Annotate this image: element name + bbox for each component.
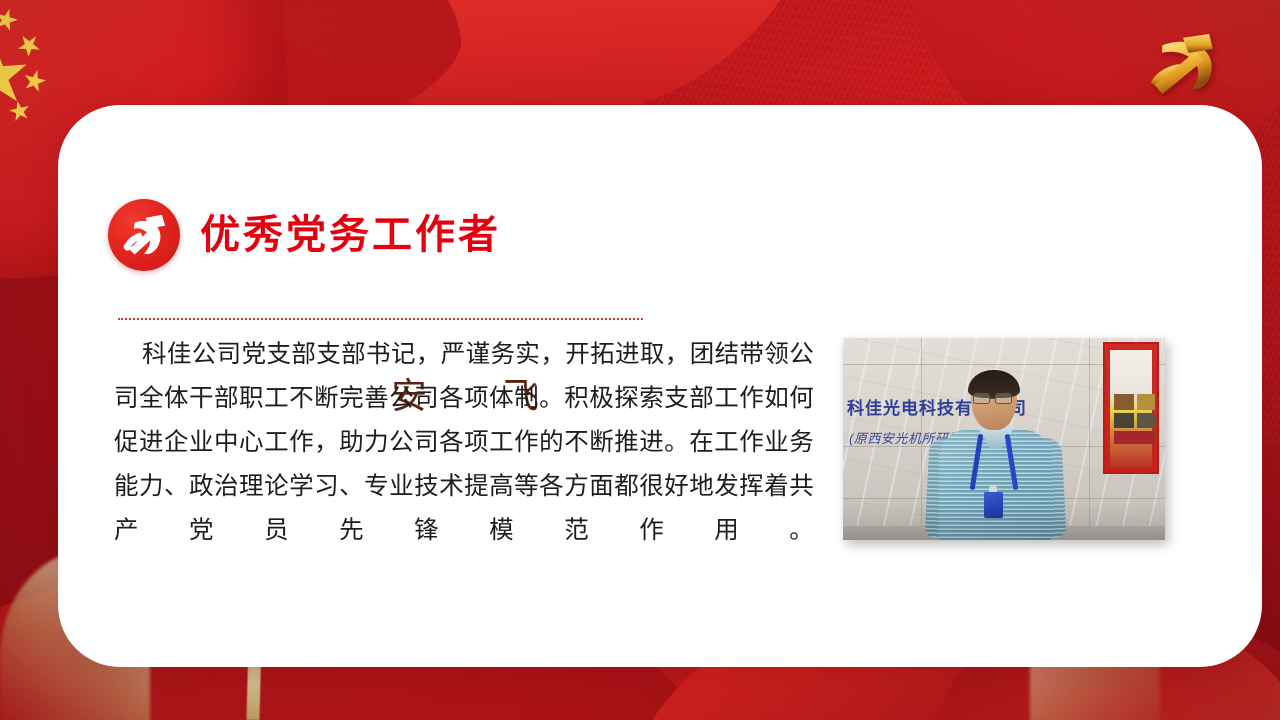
page-title: 优秀党务工作者 [200, 215, 501, 255]
photo-person-glasses-right [995, 393, 1012, 404]
photo-wall-sign-line1: 科佳光电科技有限公司 [847, 394, 1062, 419]
content-card: 优秀党务工作者 安 飞 科佳公司党支部支部书记，严谨务实，开拓进取，团结带领公司… [58, 105, 1262, 667]
photo-person-glasses-bridge [990, 398, 995, 399]
photo-board-thumb-5 [1114, 431, 1155, 444]
photo-board-thumb-3 [1114, 413, 1134, 428]
photo-bottom-shading [843, 500, 1165, 540]
slide-canvas: 优秀党务工作者 安 飞 科佳公司党支部支部书记，严谨务实，开拓进取，团结带领公司… [0, 0, 1280, 720]
cpc-party-emblem-gold-icon [1134, 28, 1228, 104]
photo-board-thumb-1 [1114, 394, 1134, 410]
photo-board-thumb-4 [1137, 413, 1155, 428]
photo-board-thumb-2 [1137, 394, 1155, 410]
biography-paragraph: 科佳公司党支部支部书记，严谨务实，开拓进取，团结带领公司全体干部职工不断完善公司… [114, 333, 814, 553]
cpc-hammer-sickle-icon [119, 210, 169, 260]
honoree-photo: 科佳光电科技有限公司 (原西安光机所研制工厂) [843, 338, 1165, 540]
cpc-hammer-sickle-badge [108, 199, 180, 271]
photo-board-inner [1110, 350, 1152, 467]
dotted-divider [118, 318, 643, 320]
photo-person-glasses-left [973, 393, 990, 404]
header-row: 优秀党务工作者 [108, 199, 501, 271]
photo-wall-display-board [1103, 342, 1159, 474]
